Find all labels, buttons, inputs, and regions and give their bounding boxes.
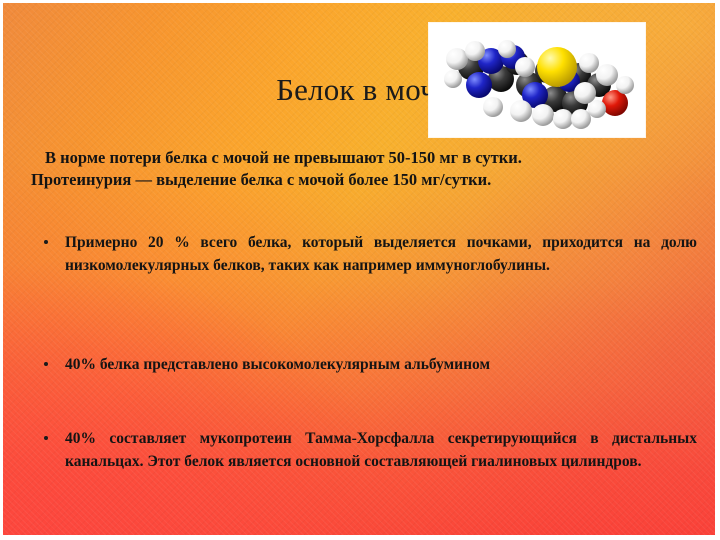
intro-line-1: В норме потери белка с мочой не превышаю…	[31, 147, 631, 169]
list-item: 40% составляет мукопротеин Тамма-Хорсфал…	[39, 427, 697, 473]
bullet-dot-icon	[44, 362, 48, 366]
molecule-image	[429, 23, 645, 137]
bullet-dot-icon	[44, 436, 48, 440]
list-item-label: Примерно 20 % всего белка, который выдел…	[65, 234, 697, 274]
intro-paragraph: В норме потери белка с мочой не превышаю…	[31, 147, 631, 191]
bullet-dot-icon	[44, 240, 48, 244]
list-item: 40% белка представлено высокомолекулярны…	[39, 353, 697, 376]
list-item: Примерно 20 % всего белка, который выдел…	[39, 231, 697, 277]
intro-line-2: Протеинурия — выделение белка с мочой бо…	[31, 169, 631, 191]
list-item-label: 40% составляет мукопротеин Тамма-Хорсфал…	[65, 430, 697, 470]
list-item-label: 40% белка представлено высокомолекулярны…	[65, 356, 490, 373]
presentation-slide: Белок в моче В норме потери белка с мочо…	[0, 0, 720, 540]
